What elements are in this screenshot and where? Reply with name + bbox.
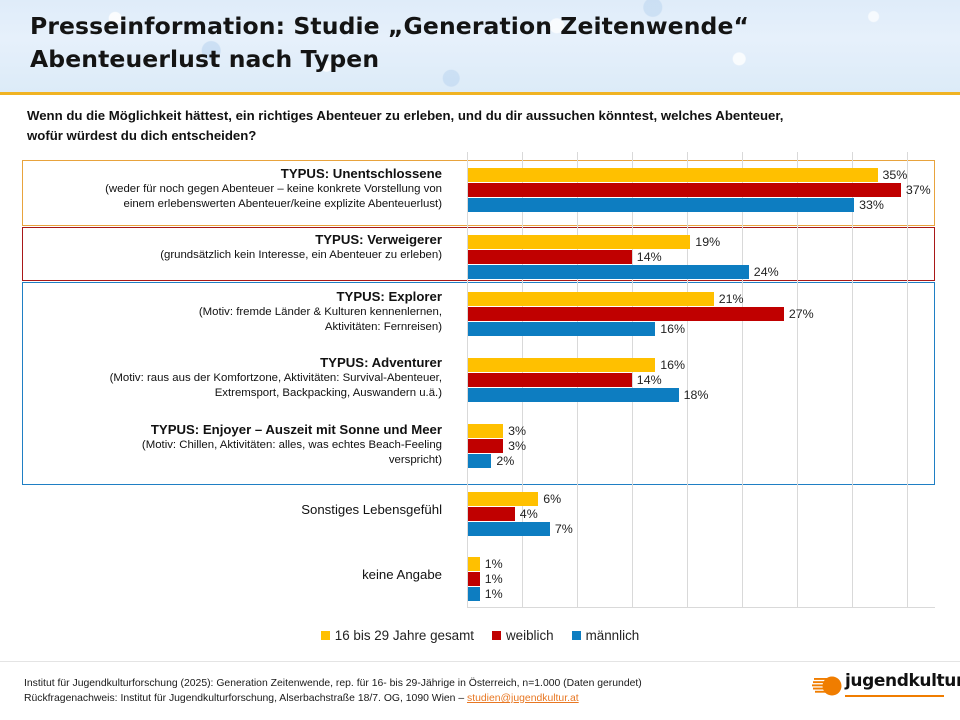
footer-citation: Institut für Jugendkulturforschung (2025…: [24, 676, 824, 706]
bar: [468, 557, 480, 571]
legend-swatch-icon: [572, 631, 581, 640]
category-subtitle: (Motiv: fremde Länder & Kulturen kennenl…: [22, 305, 442, 334]
bar: [468, 358, 655, 372]
gridline: [797, 152, 798, 607]
footer-divider: [0, 661, 960, 662]
category-title: Sonstiges Lebensgefühl: [22, 502, 442, 518]
bar-value-label: 37%: [906, 183, 931, 197]
legend-item-gesamt: 16 bis 29 Jahre gesamt: [321, 628, 474, 643]
bar-value-label: 6%: [543, 492, 561, 506]
category-label-adventurer: TYPUS: Adventurer (Motiv: raus aus der K…: [22, 355, 442, 400]
gridline: [742, 152, 743, 607]
bar-value-label: 1%: [485, 572, 503, 586]
logo-underline: [845, 695, 944, 697]
footer-line-1: Institut für Jugendkulturforschung (2025…: [24, 676, 824, 691]
bar-value-label: 33%: [859, 198, 884, 212]
page-header: Presseinformation: Studie „Generation Ze…: [0, 0, 960, 92]
jugendkultur-logo: jugendkultur.at: [812, 670, 944, 704]
chart-legend: 16 bis 29 Jahre gesamt weiblich männlich: [0, 624, 960, 646]
bar-value-label: 2%: [496, 454, 514, 468]
category-label-sonstiges: Sonstiges Lebensgefühl: [22, 502, 442, 518]
bar: [468, 250, 632, 264]
bar: [468, 388, 679, 402]
category-title: TYPUS: Enjoyer – Auszeit mit Sonne und M…: [22, 422, 442, 438]
bar-value-label: 35%: [883, 168, 908, 182]
bar-value-label: 24%: [754, 265, 779, 279]
category-label-verweigerer: TYPUS: Verweigerer (grundsätzlich kein I…: [22, 232, 442, 263]
header-accent-rule: [0, 92, 960, 95]
bar-value-label: 21%: [719, 292, 744, 306]
bar: [468, 507, 515, 521]
category-label-keine-angabe: keine Angabe: [22, 567, 442, 583]
gridline: [687, 152, 688, 607]
bar: [468, 235, 690, 249]
category-subtitle: (Motiv: Chillen, Aktivitäten: alles, was…: [22, 438, 442, 467]
gridline: [632, 152, 633, 607]
category-title: keine Angabe: [22, 567, 442, 583]
logo-wordmark: jugendkultur.at: [845, 671, 960, 691]
page-title: Presseinformation: Studie „Generation Ze…: [30, 10, 930, 76]
legend-swatch-icon: [492, 631, 501, 640]
bar: [468, 454, 491, 468]
bar-chart: TYPUS: Unentschlossene (weder für noch g…: [0, 152, 960, 652]
bar: [468, 424, 503, 438]
category-subtitle: (grundsätzlich kein Interesse, ein Abent…: [22, 248, 442, 263]
bar: [468, 307, 784, 321]
bar: [468, 587, 480, 601]
bar-value-label: 4%: [520, 507, 538, 521]
bar: [468, 373, 632, 387]
bar: [468, 292, 714, 306]
bar-value-label: 19%: [695, 235, 720, 249]
plot-area: 35%37%33%19%14%24%21%27%16%16%14%18%3%3%…: [467, 152, 935, 607]
category-subtitle: (Motiv: raus aus der Komfortzone, Aktivi…: [22, 371, 442, 400]
category-title: TYPUS: Adventurer: [22, 355, 442, 371]
category-subtitle: (weder für noch gegen Abenteuer – keine …: [22, 182, 442, 211]
bar: [468, 183, 901, 197]
bar-value-label: 7%: [555, 522, 573, 536]
bar: [468, 198, 854, 212]
bar-value-label: 3%: [508, 424, 526, 438]
bar-value-label: 14%: [637, 250, 662, 264]
legend-label: männlich: [586, 628, 640, 643]
footer-line-2: Rückfragenachweis: Institut für Jugendku…: [24, 691, 824, 706]
legend-item-weiblich: weiblich: [492, 628, 554, 643]
bar-value-label: 1%: [485, 587, 503, 601]
bar-value-label: 1%: [485, 557, 503, 571]
bar-value-label: 16%: [660, 358, 685, 372]
bar-value-label: 16%: [660, 322, 685, 336]
category-title: TYPUS: Unentschlossene: [22, 166, 442, 182]
gridline: [907, 152, 908, 607]
category-label-unentschlossene: TYPUS: Unentschlossene (weder für noch g…: [22, 166, 442, 211]
legend-item-maennlich: männlich: [572, 628, 640, 643]
bar-value-label: 14%: [637, 373, 662, 387]
bar: [468, 265, 749, 279]
legend-label: 16 bis 29 Jahre gesamt: [335, 628, 474, 643]
legend-swatch-icon: [321, 631, 330, 640]
category-label-explorer: TYPUS: Explorer (Motiv: fremde Länder & …: [22, 289, 442, 334]
bar-value-label: 18%: [684, 388, 709, 402]
bar: [468, 572, 480, 586]
bar: [468, 168, 878, 182]
category-label-enjoyer: TYPUS: Enjoyer – Auszeit mit Sonne und M…: [22, 422, 442, 467]
category-axis-line: [467, 607, 935, 608]
footer-line-2-text: Rückfragenachweis: Institut für Jugendku…: [24, 693, 467, 704]
bar-value-label: 27%: [789, 307, 814, 321]
bar: [468, 322, 655, 336]
bar: [468, 492, 538, 506]
bar-value-label: 3%: [508, 439, 526, 453]
legend-label: weiblich: [506, 628, 554, 643]
logo-mark-icon: [812, 672, 842, 700]
email-link[interactable]: studien@jugendkultur.at: [467, 693, 579, 704]
gridline: [852, 152, 853, 607]
survey-question: Wenn du die Möglichkeit hättest, ein ric…: [27, 106, 917, 146]
category-title: TYPUS: Verweigerer: [22, 232, 442, 248]
bar: [468, 439, 503, 453]
bar: [468, 522, 550, 536]
category-title: TYPUS: Explorer: [22, 289, 442, 305]
